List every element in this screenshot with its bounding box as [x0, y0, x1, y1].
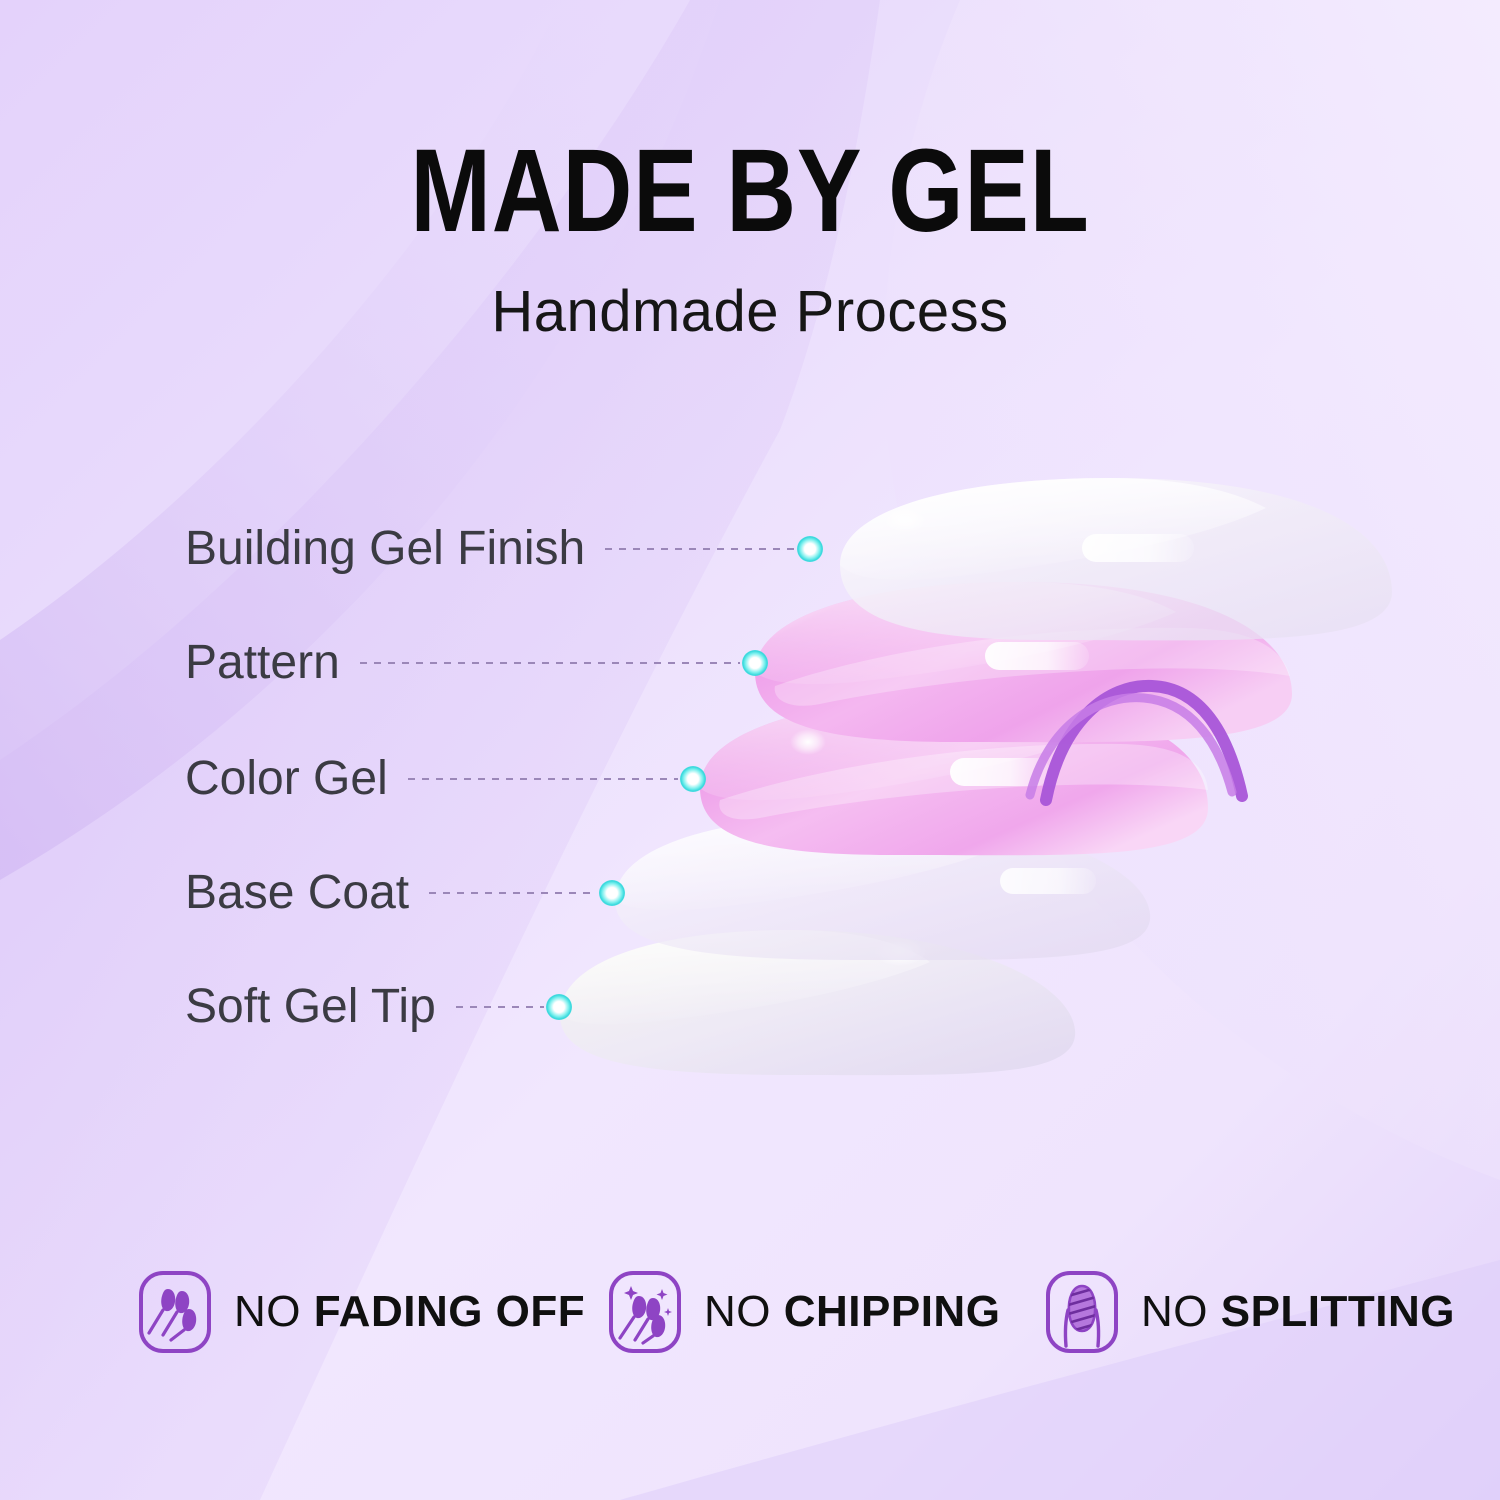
nail-sparkle-strokes-icon [608, 1270, 682, 1354]
feature-label-emph: CHIPPING [784, 1287, 1001, 1336]
layer-dot-icon [680, 766, 706, 792]
striped-nail-finger-icon [1045, 1270, 1119, 1354]
leader-line [605, 548, 795, 550]
callout-label: Pattern [185, 639, 340, 687]
callout-base-coat[interactable]: Base Coat [185, 864, 625, 922]
callout-building-gel-finish[interactable]: Building Gel Finish [185, 520, 823, 578]
feature-label-lead: NO [704, 1287, 784, 1336]
feature-label-lead: NO [1141, 1287, 1221, 1336]
feature-label: NO SPLITTING [1141, 1290, 1455, 1334]
layer-dot-icon [546, 994, 572, 1020]
gel-layer-pattern [755, 582, 1292, 800]
gel-layer-base-coat [615, 816, 1150, 960]
callout-label: Soft Gel Tip [185, 983, 436, 1031]
leader-line [360, 662, 740, 664]
page-subtitle: Handmade Process [0, 278, 1500, 345]
feature-label-lead: NO [234, 1287, 314, 1336]
feature-label: NO FADING OFF [234, 1290, 585, 1334]
feature-badges: NO FADING OFF [0, 1262, 1500, 1372]
feature-no-chipping[interactable]: NO CHIPPING [608, 1270, 1000, 1354]
callout-color-gel[interactable]: Color Gel [185, 750, 706, 808]
feature-label: NO CHIPPING [704, 1290, 1000, 1334]
callout-soft-gel-tip[interactable]: Soft Gel Tip [185, 978, 572, 1036]
page-title: MADE BY GEL [135, 132, 1365, 250]
header: MADE BY GEL Handmade Process [0, 132, 1500, 345]
feature-label-emph: SPLITTING [1221, 1287, 1455, 1336]
gel-layer-building-gel-finish [840, 478, 1392, 640]
callout-pattern[interactable]: Pattern [185, 634, 768, 692]
callout-label: Color Gel [185, 755, 388, 803]
callout-label: Building Gel Finish [185, 525, 585, 573]
layer-dot-icon [742, 650, 768, 676]
layer-dot-icon [797, 536, 823, 562]
gel-layer-soft-gel-tip [560, 930, 1075, 1075]
feature-no-splitting[interactable]: NO SPLITTING [1045, 1270, 1455, 1354]
gel-layer-color-gel [700, 698, 1208, 855]
leader-line [429, 892, 597, 894]
nail-brush-strokes-icon [138, 1270, 212, 1354]
leader-line [456, 1006, 544, 1008]
leader-line [408, 778, 678, 780]
made-by-gel-poster: MADE BY GEL Handmade Process [0, 0, 1500, 1500]
feature-label-emph: FADING OFF [314, 1287, 585, 1336]
callout-label: Base Coat [185, 869, 409, 917]
feature-no-fading-off[interactable]: NO FADING OFF [138, 1270, 585, 1354]
layer-dot-icon [599, 880, 625, 906]
